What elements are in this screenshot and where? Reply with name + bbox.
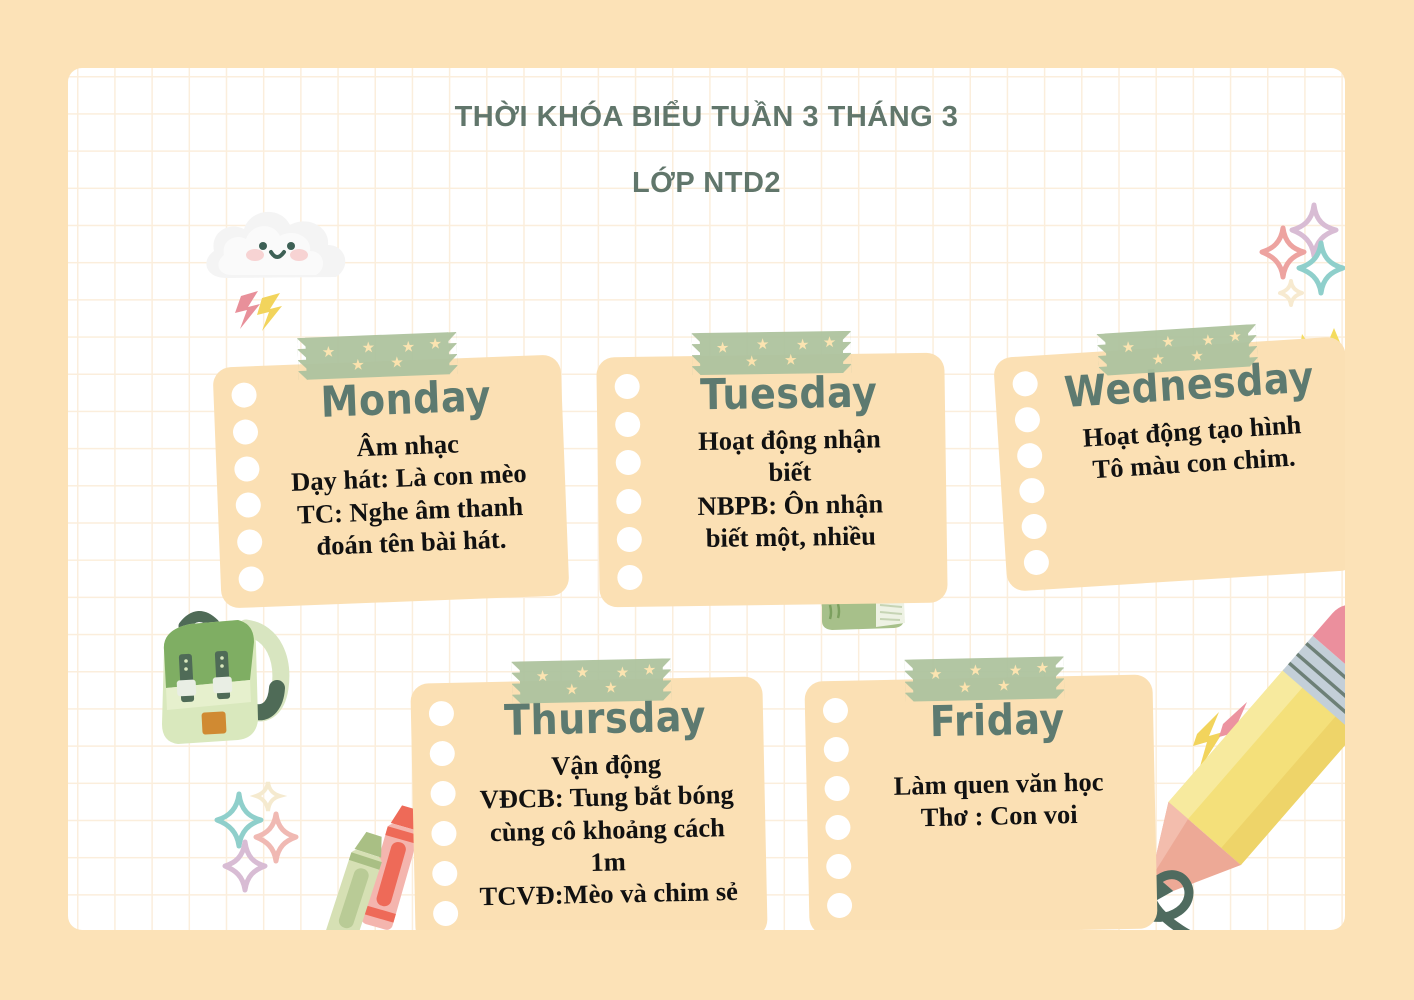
punch-hole xyxy=(616,488,641,513)
card-content: Tuesday Hoạt động nhận biết NBPB: Ôn nhậ… xyxy=(644,367,935,555)
punch-hole xyxy=(428,700,454,726)
punch-hole xyxy=(236,529,262,555)
backpack-icon xyxy=(146,602,306,777)
punch-hole xyxy=(231,382,257,408)
punch-hole xyxy=(1014,406,1041,433)
day-activities-thursday: Vận động VĐCB: Tung bắt bóng cùng cô kho… xyxy=(460,746,755,914)
punch-hole xyxy=(617,565,642,590)
day-activities-monday: Âm nhạc Dạy hát: Là con mèo TC: Nghe âm … xyxy=(263,424,556,564)
activity-line: biết một, nhiều xyxy=(647,519,935,555)
punch-hole xyxy=(430,781,456,807)
punch-hole xyxy=(232,419,258,445)
washi-tape: ★ ★ ★ ★ ★ ★ xyxy=(520,659,664,704)
punch-hole xyxy=(429,741,455,767)
punch-hole xyxy=(615,412,640,437)
washi-tape: ★ ★ ★ ★ ★ ★ xyxy=(1105,325,1250,376)
activity-line: Thơ : Con voi xyxy=(855,797,1144,835)
page-title: THỜI KHÓA BIỂU TUẦN 3 THÁNG 3 xyxy=(68,101,1345,134)
activity-line: Làm quen văn học xyxy=(854,765,1143,803)
punch-holes xyxy=(613,367,642,597)
punch-hole xyxy=(233,456,259,482)
punch-holes xyxy=(822,691,853,925)
punch-hole xyxy=(822,698,848,724)
day-name-friday: Friday xyxy=(853,693,1142,748)
washi-tape: ★ ★ ★ ★ ★ ★ xyxy=(305,332,450,379)
punch-hole xyxy=(614,374,639,399)
punch-hole xyxy=(826,893,852,919)
punch-hole xyxy=(1020,513,1047,540)
punch-hole xyxy=(823,737,849,763)
punch-hole xyxy=(615,450,640,475)
day-card-thursday[interactable]: Thursday Vận động VĐCB: Tung bắt bóng cù… xyxy=(410,676,767,930)
punch-hole xyxy=(1011,371,1038,398)
day-card-friday[interactable]: Friday Làm quen văn học Thơ : Con voi xyxy=(804,674,1157,930)
paper-panel: THỜI KHÓA BIỂU TUẦN 3 THÁNG 3 LỚP NTD2 xyxy=(68,68,1345,930)
punch-holes xyxy=(428,693,459,930)
day-activities-wednesday: Hoạt động tạo hình Tô màu con chim. xyxy=(1045,406,1340,489)
card-content: Friday Làm quen văn học Thơ : Con voi xyxy=(853,693,1144,836)
day-activities-tuesday: Hoạt động nhận biết NBPB: Ôn nhận biết m… xyxy=(645,422,935,555)
activity-line: biết xyxy=(646,454,934,490)
day-card-monday[interactable]: Monday Âm nhạc Dạy hát: Là con mèo TC: N… xyxy=(213,354,570,608)
activity-line: NBPB: Ôn nhận xyxy=(646,486,934,522)
card-content: Monday Âm nhạc Dạy hát: Là con mèo TC: N… xyxy=(261,369,556,564)
punch-holes xyxy=(230,376,264,598)
punch-hole xyxy=(432,861,458,887)
punch-hole xyxy=(825,854,851,880)
card-content: Thursday Vận động VĐCB: Tung bắt bóng cù… xyxy=(459,691,755,914)
punch-hole xyxy=(432,901,458,927)
day-card-tuesday[interactable]: Tuesday Hoạt động nhận biết NBPB: Ôn nhậ… xyxy=(596,353,947,608)
day-name-tuesday: Tuesday xyxy=(644,367,933,420)
punch-hole xyxy=(431,821,457,847)
punch-hole xyxy=(1023,549,1050,576)
day-card-wednesday[interactable]: Wednesday Hoạt động tạo hình Tô màu con … xyxy=(993,336,1345,592)
card-content: Wednesday Hoạt động tạo hình Tô màu con … xyxy=(1042,351,1341,489)
punch-hole xyxy=(1016,442,1043,469)
punch-hole xyxy=(616,527,641,552)
activity-line: Hoạt động nhận xyxy=(645,422,933,458)
activity-line: TCVĐ:Mèo và chim sẻ xyxy=(462,875,755,913)
activity-line: cùng cô khoảng cách xyxy=(461,810,754,848)
washi-tape: ★ ★ ★ ★ ★ ★ xyxy=(913,657,1057,702)
sparkles-icon xyxy=(1236,193,1345,313)
punch-hole xyxy=(824,776,850,802)
punch-hole xyxy=(235,492,261,518)
poster-canvas: THỜI KHÓA BIỂU TUẦN 3 THÁNG 3 LỚP NTD2 xyxy=(0,0,1414,1000)
punch-hole xyxy=(825,815,851,841)
punch-hole xyxy=(1018,478,1045,505)
cloud-icon xyxy=(188,183,368,343)
punch-hole xyxy=(238,566,264,592)
washi-tape: ★ ★ ★ ★ ★ ★ xyxy=(700,331,844,375)
day-activities-friday: Làm quen văn học Thơ : Con voi xyxy=(854,765,1143,836)
